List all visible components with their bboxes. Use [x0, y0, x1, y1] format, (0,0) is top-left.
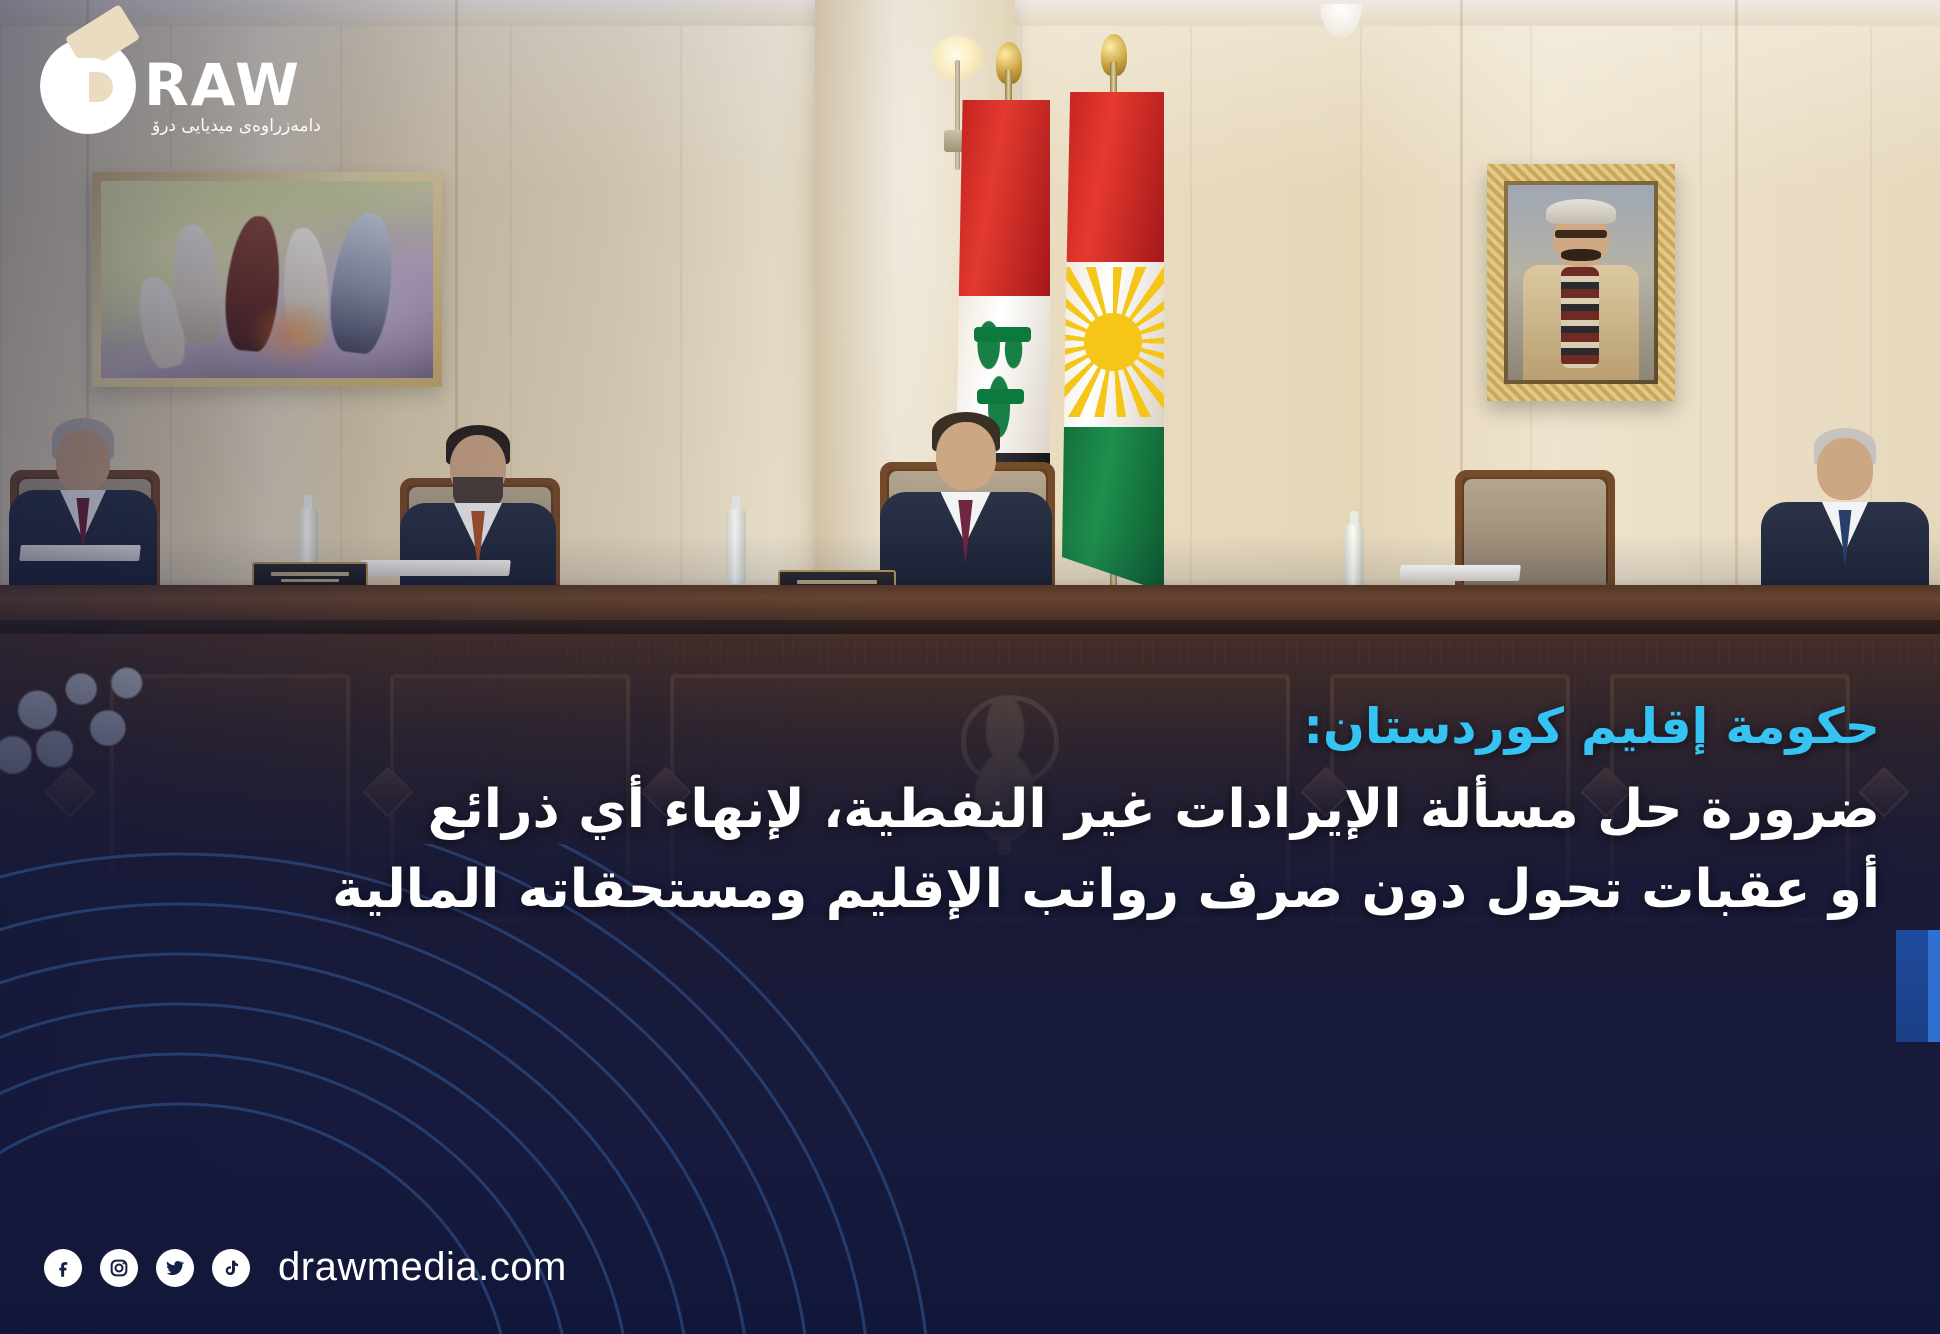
headline-line-1: ضرورة حل مسألة الإيرادات غير النفطية، لإ…: [60, 770, 1880, 851]
logo-d-stem: [66, 58, 81, 116]
headline-block: حكومة إقليم كوردستان: ضرورة حل مسألة الإ…: [60, 690, 1880, 931]
social-media-news-card: RAW دامەزراوەی میدیایی درۆ حكومة إقليم ك…: [0, 0, 1940, 1334]
right-accent-bar-highlight: [1928, 930, 1940, 1042]
logo-wordmark: RAW: [144, 56, 301, 114]
headline-line-2: أو عقبات تحول دون صرف رواتب الإقليم ومست…: [60, 850, 1880, 931]
footer-bar: drawmedia.com: [44, 1245, 567, 1290]
twitter-icon[interactable]: [156, 1249, 194, 1287]
tiktok-icon[interactable]: [212, 1249, 250, 1287]
logo-subtitle: دامەزراوەی میدیایی درۆ: [152, 116, 321, 136]
gradient-overlay-left: [0, 0, 1940, 1334]
website-url[interactable]: drawmedia.com: [278, 1245, 567, 1290]
logo-circle-d-icon: [40, 38, 136, 134]
facebook-icon[interactable]: [44, 1249, 82, 1287]
draw-media-logo[interactable]: RAW دامەزراوەی میدیایی درۆ: [40, 38, 370, 134]
headline-kicker: حكومة إقليم كوردستان:: [60, 690, 1880, 764]
instagram-icon[interactable]: [100, 1249, 138, 1287]
logo-letter-d: [66, 58, 120, 116]
